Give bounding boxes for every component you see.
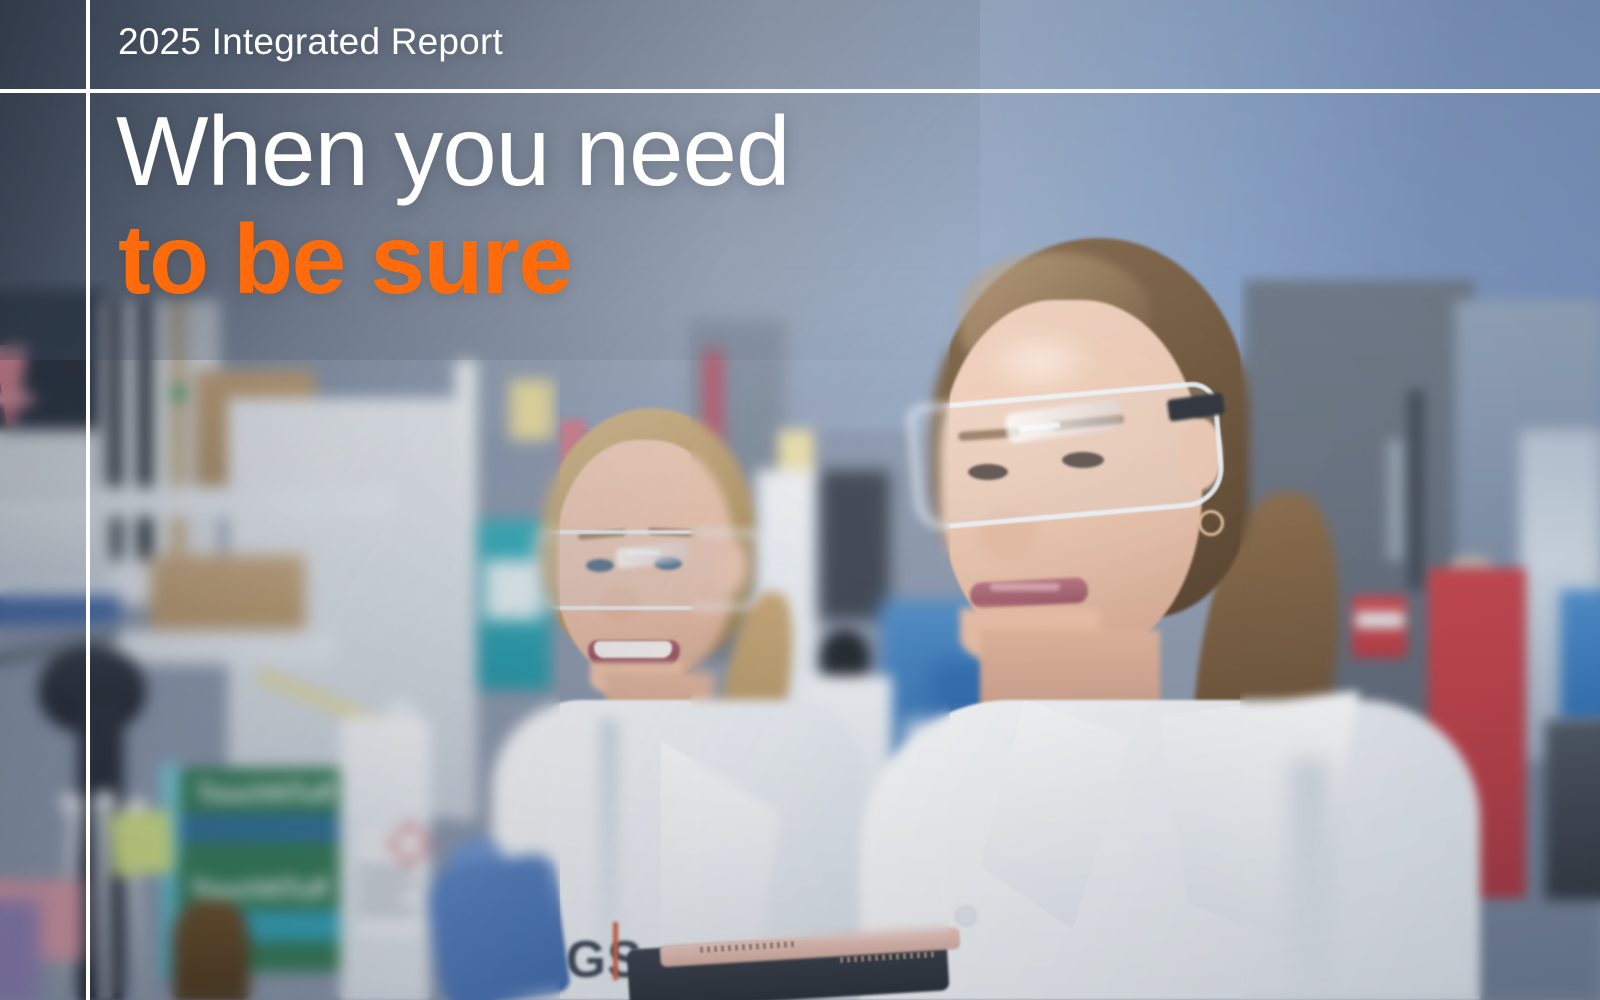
headline-line-two-accent: to be sure bbox=[118, 212, 571, 306]
horizontal-rule bbox=[0, 89, 1600, 93]
vertical-rule bbox=[86, 0, 90, 1000]
depth-of-field-left bbox=[0, 280, 560, 1000]
lab-coat-button bbox=[958, 908, 974, 924]
headline-line-one: When you need bbox=[116, 104, 789, 198]
technician-blonde-teeth bbox=[594, 641, 672, 658]
report-eyebrow-title: 2025 Integrated Report bbox=[118, 22, 503, 63]
technician-brunette-forehead-highlight bbox=[980, 325, 1100, 397]
hoop-earring bbox=[1198, 510, 1224, 536]
depth-of-field-right bbox=[1240, 260, 1600, 1000]
sgs-logo-accent-bar bbox=[613, 922, 618, 980]
technician-brunette-lip-highlight bbox=[990, 583, 1060, 591]
report-cover-page: TouchNTuff TouchNTuff bbox=[0, 0, 1600, 1000]
depth-of-field-mid bbox=[690, 300, 950, 940]
